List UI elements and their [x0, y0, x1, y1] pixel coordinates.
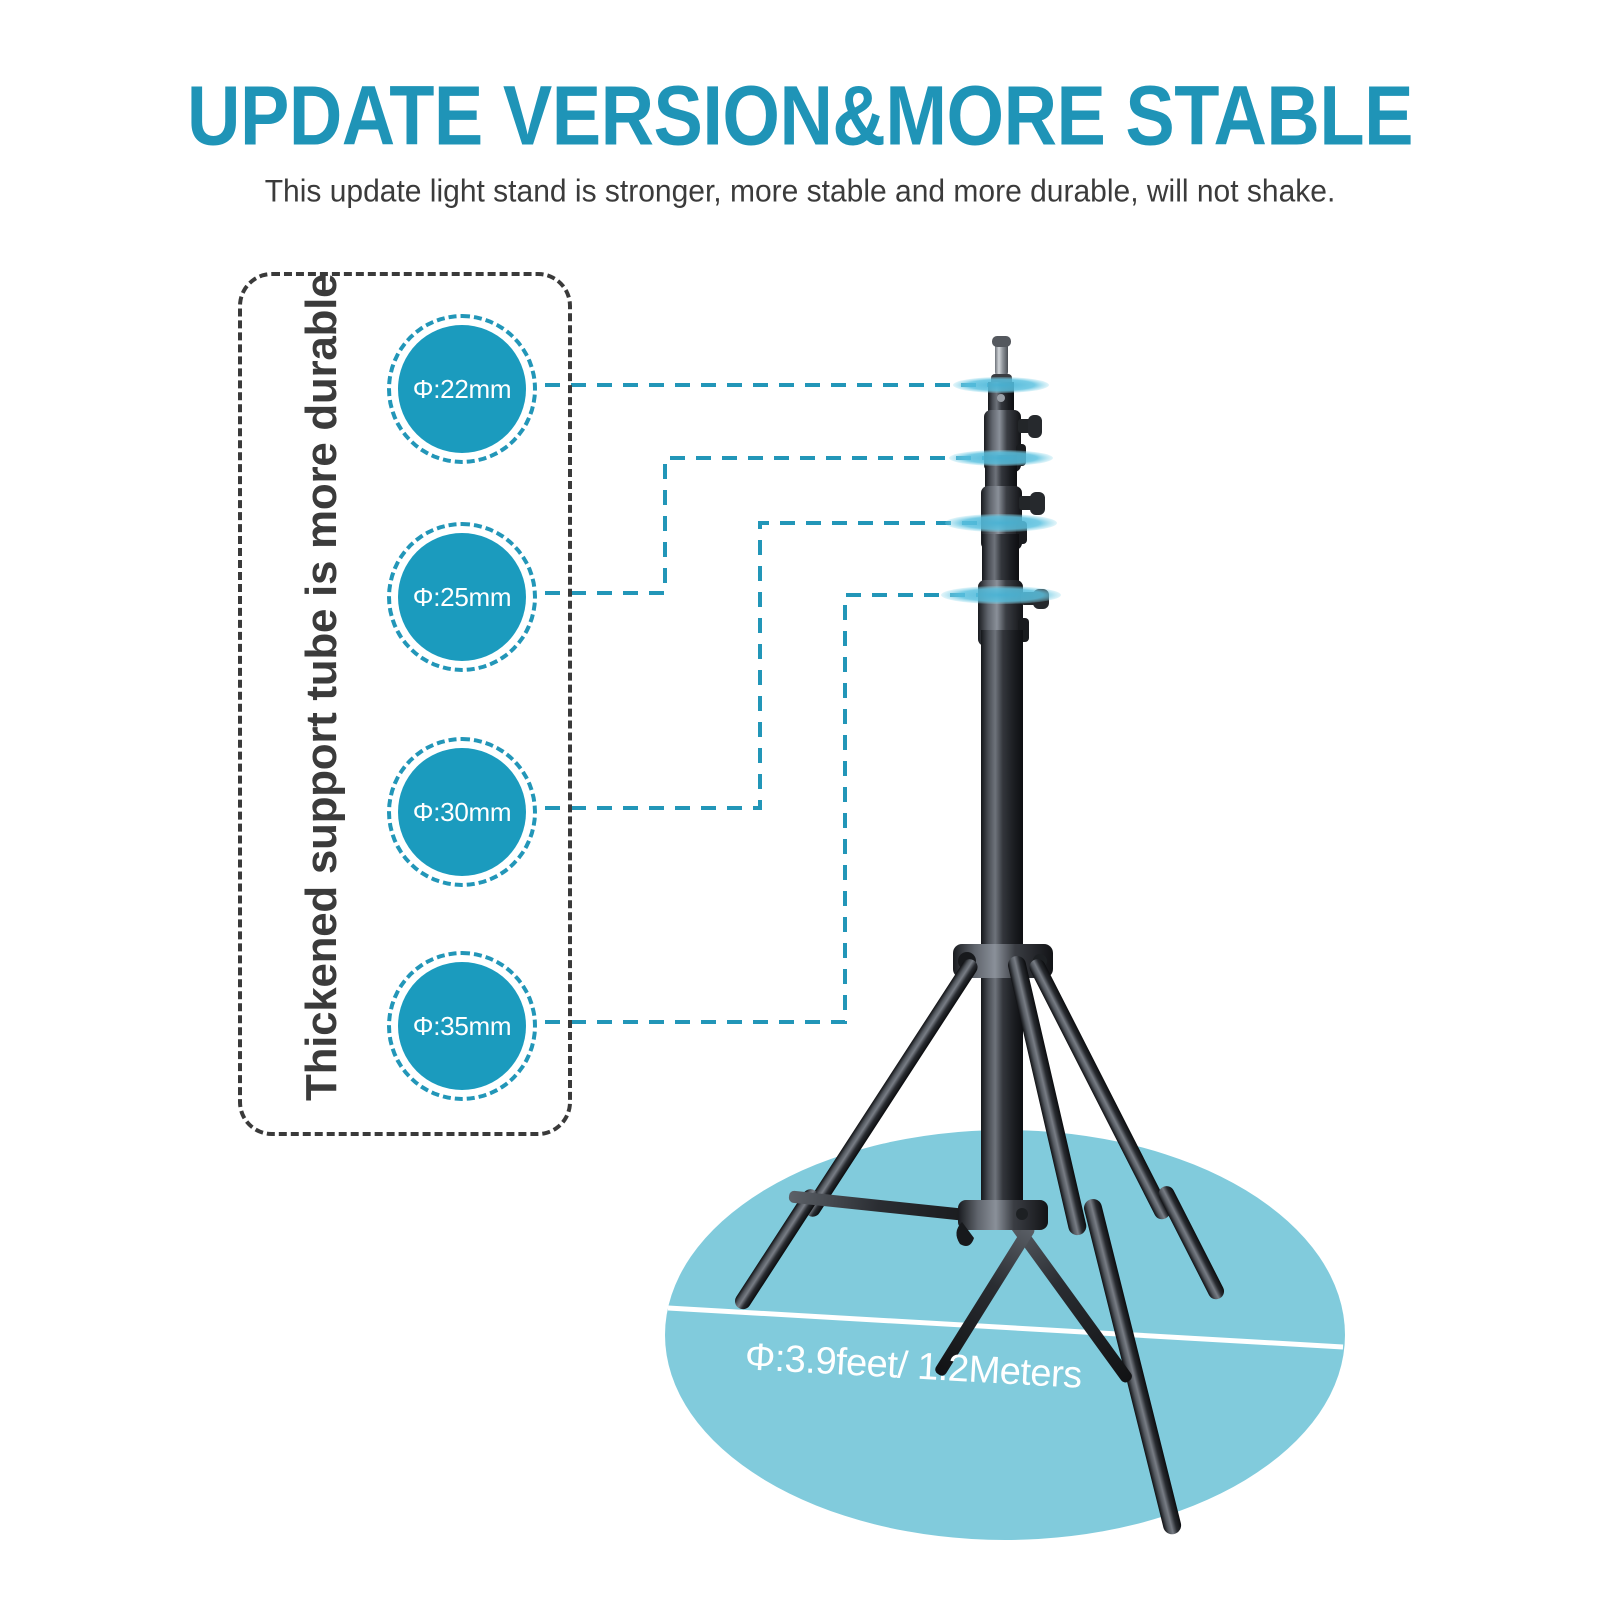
diameter-badge-22mm[interactable]: Φ:22mm	[387, 314, 537, 464]
diameter-badge-35mm[interactable]: Φ:35mm	[387, 951, 537, 1101]
diameter-label-30mm: Φ:30mm	[413, 797, 511, 828]
leader-lines	[545, 385, 1030, 1022]
diameter-label-22mm: Φ:22mm	[413, 374, 511, 405]
diameter-label-25mm: Φ:25mm	[413, 582, 511, 613]
diameter-disc: Φ:22mm	[398, 325, 526, 453]
diameter-label-35mm: Φ:35mm	[413, 1011, 511, 1042]
tube-diameter-panel: Thickened support tube is more durable Φ…	[238, 272, 572, 1136]
panel-vertical-label: Thickened support tube is more durable	[297, 281, 347, 1101]
diameter-disc: Φ:35mm	[398, 962, 526, 1090]
tube-section-35mm	[981, 630, 1023, 1225]
diameter-disc: Φ:30mm	[398, 748, 526, 876]
leader-line-25mm	[545, 458, 1008, 593]
diameter-badge-25mm[interactable]: Φ:25mm	[387, 522, 537, 672]
infographic-canvas: UPDATE VERSION&MORE STABLE This update l…	[0, 0, 1600, 1600]
diameter-disc: Φ:25mm	[398, 533, 526, 661]
leader-line-30mm	[545, 523, 1018, 808]
diameter-badge-30mm[interactable]: Φ:30mm	[387, 737, 537, 887]
